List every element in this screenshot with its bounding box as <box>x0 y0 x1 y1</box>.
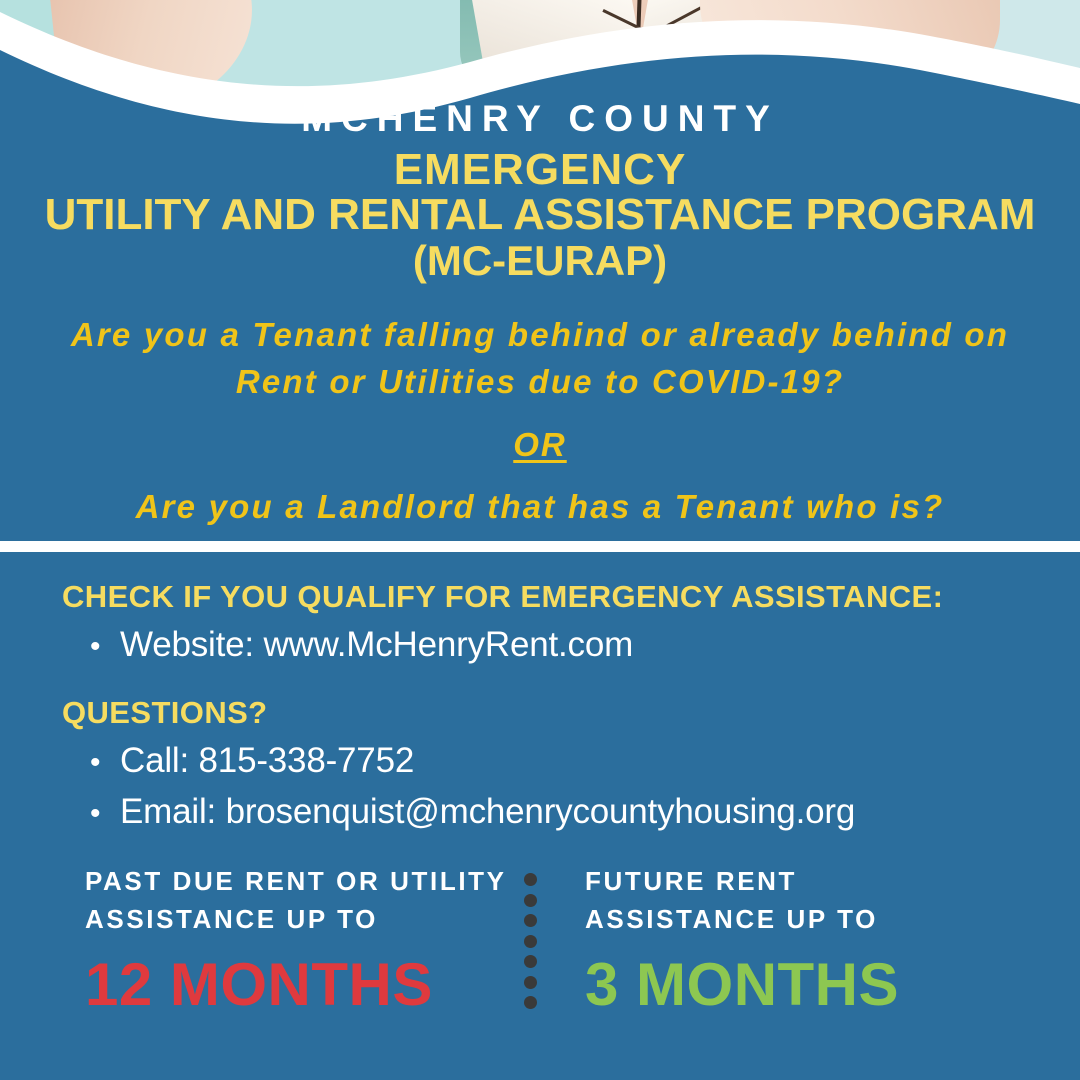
photo-book-page-left <box>470 0 649 96</box>
question-tenant-line-1: Are you a Tenant falling behind or alrea… <box>0 312 1080 359</box>
stat-left-label-line-2: ASSISTANCE UP TO <box>85 900 515 938</box>
assistance-stats-row: PAST DUE RENT OR UTILITY ASSISTANCE UP T… <box>0 862 1080 1032</box>
contact-info-group: CHECK IF YOU QUALIFY FOR EMERGENCY ASSIS… <box>62 578 1062 833</box>
stat-right-label-line-2: ASSISTANCE UP TO <box>585 900 1005 938</box>
list-item-email[interactable]: • Email: brosenquist@mchenrycountyhousin… <box>90 791 1062 833</box>
program-title-line-2: UTILITY AND RENTAL ASSISTANCE PROGRAM <box>0 193 1080 238</box>
dotted-column-divider <box>523 873 537 1009</box>
divider-dot <box>524 894 537 907</box>
website-text[interactable]: Website: www.McHenryRent.com <box>120 624 633 666</box>
stat-past-due-column: PAST DUE RENT OR UTILITY ASSISTANCE UP T… <box>85 862 515 1016</box>
section-divider <box>0 541 1080 552</box>
stat-right-label-line-1: FUTURE RENT <box>585 862 1005 900</box>
eligibility-question-group: Are you a Tenant falling behind or alrea… <box>0 312 1080 531</box>
bullet-icon: • <box>90 748 120 778</box>
questions-heading: QUESTIONS? <box>62 694 1062 731</box>
divider-dot <box>524 914 537 927</box>
stat-left-label-line-1: PAST DUE RENT OR UTILITY <box>85 862 515 900</box>
stat-left-value: 12 MONTHS <box>85 953 515 1016</box>
header-text-group: MCHENRY COUNTY EMERGENCY UTILITY AND REN… <box>0 98 1080 283</box>
question-tenant-line-2: Rent or Utilities due to COVID-19? <box>0 359 1080 406</box>
phone-text[interactable]: Call: 815-338-7752 <box>120 740 414 782</box>
divider-dot <box>524 955 537 968</box>
header-photo-banner <box>0 0 1080 96</box>
photo-arm-left <box>48 0 262 96</box>
bullet-icon: • <box>90 632 120 662</box>
divider-dot <box>524 996 537 1009</box>
divider-dot <box>524 873 537 886</box>
stat-future-rent-column: FUTURE RENT ASSISTANCE UP TO 3 MONTHS <box>585 862 1005 1016</box>
email-text[interactable]: Email: brosenquist@mchenrycountyhousing.… <box>120 791 855 833</box>
list-item-website[interactable]: • Website: www.McHenryRent.com <box>90 624 1062 666</box>
county-name: MCHENRY COUNTY <box>0 98 1080 141</box>
program-acronym: (MC-EURAP) <box>0 240 1080 283</box>
program-title-line-1: EMERGENCY <box>0 148 1080 193</box>
qualify-heading: CHECK IF YOU QUALIFY FOR EMERGENCY ASSIS… <box>62 578 1062 615</box>
list-item-phone[interactable]: • Call: 815-338-7752 <box>90 740 1062 782</box>
question-or-separator: OR <box>0 426 1080 464</box>
divider-dot <box>524 976 537 989</box>
bullet-icon: • <box>90 799 120 829</box>
question-landlord-line: Are you a Landlord that has a Tenant who… <box>0 484 1080 531</box>
divider-dot <box>524 935 537 948</box>
stat-right-value: 3 MONTHS <box>585 953 1005 1016</box>
